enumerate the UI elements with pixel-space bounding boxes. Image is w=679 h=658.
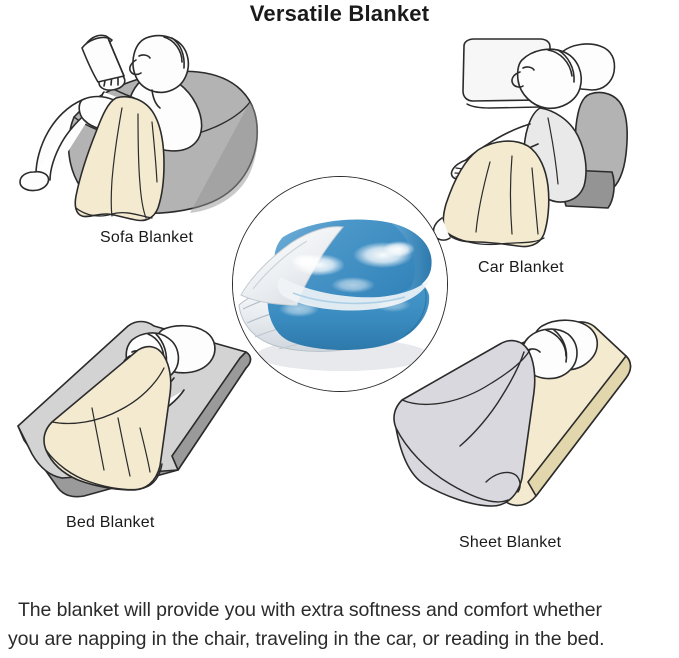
scene-label-sheet: Sheet Blanket [459,534,561,552]
scene-label-car: Car Blanket [478,259,564,277]
footer-caption: The blanket will provide you with extra … [8,596,674,654]
product-photo-circle [232,176,448,392]
folded-blanket-photo [233,177,447,391]
product-infographic: Versatile Blanket [0,0,679,658]
footer-caption-line-1: The blanket will provide you with extra … [8,596,674,625]
scene-label-sofa: Sofa Blanket [100,229,193,247]
scene-car-blanket [420,28,672,260]
sofa-blanket-illustration [12,22,292,227]
car-blanket-illustration [420,28,672,260]
scene-sofa-blanket [12,22,292,227]
bed-blanket-illustration [2,318,260,510]
footer-caption-line-2: you are napping in the chair, traveling … [8,625,674,654]
scene-label-bed: Bed Blanket [66,514,154,532]
scene-bed-blanket [2,318,260,510]
